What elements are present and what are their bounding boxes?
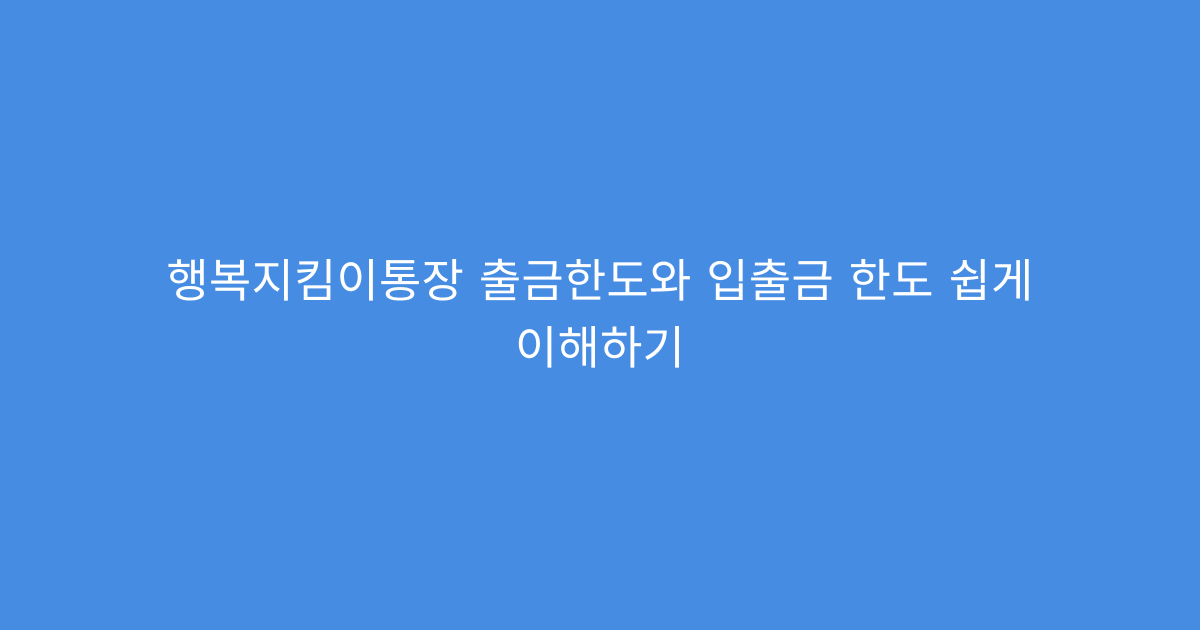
share-card-content: 행복지킴이통장 출금한도와 입출금 한도 쉽게 이해하기 (0, 248, 1200, 382)
share-card: 행복지킴이통장 출금한도와 입출금 한도 쉽게 이해하기 (0, 0, 1200, 630)
page-title: 행복지킴이통장 출금한도와 입출금 한도 쉽게 이해하기 (166, 248, 1033, 382)
